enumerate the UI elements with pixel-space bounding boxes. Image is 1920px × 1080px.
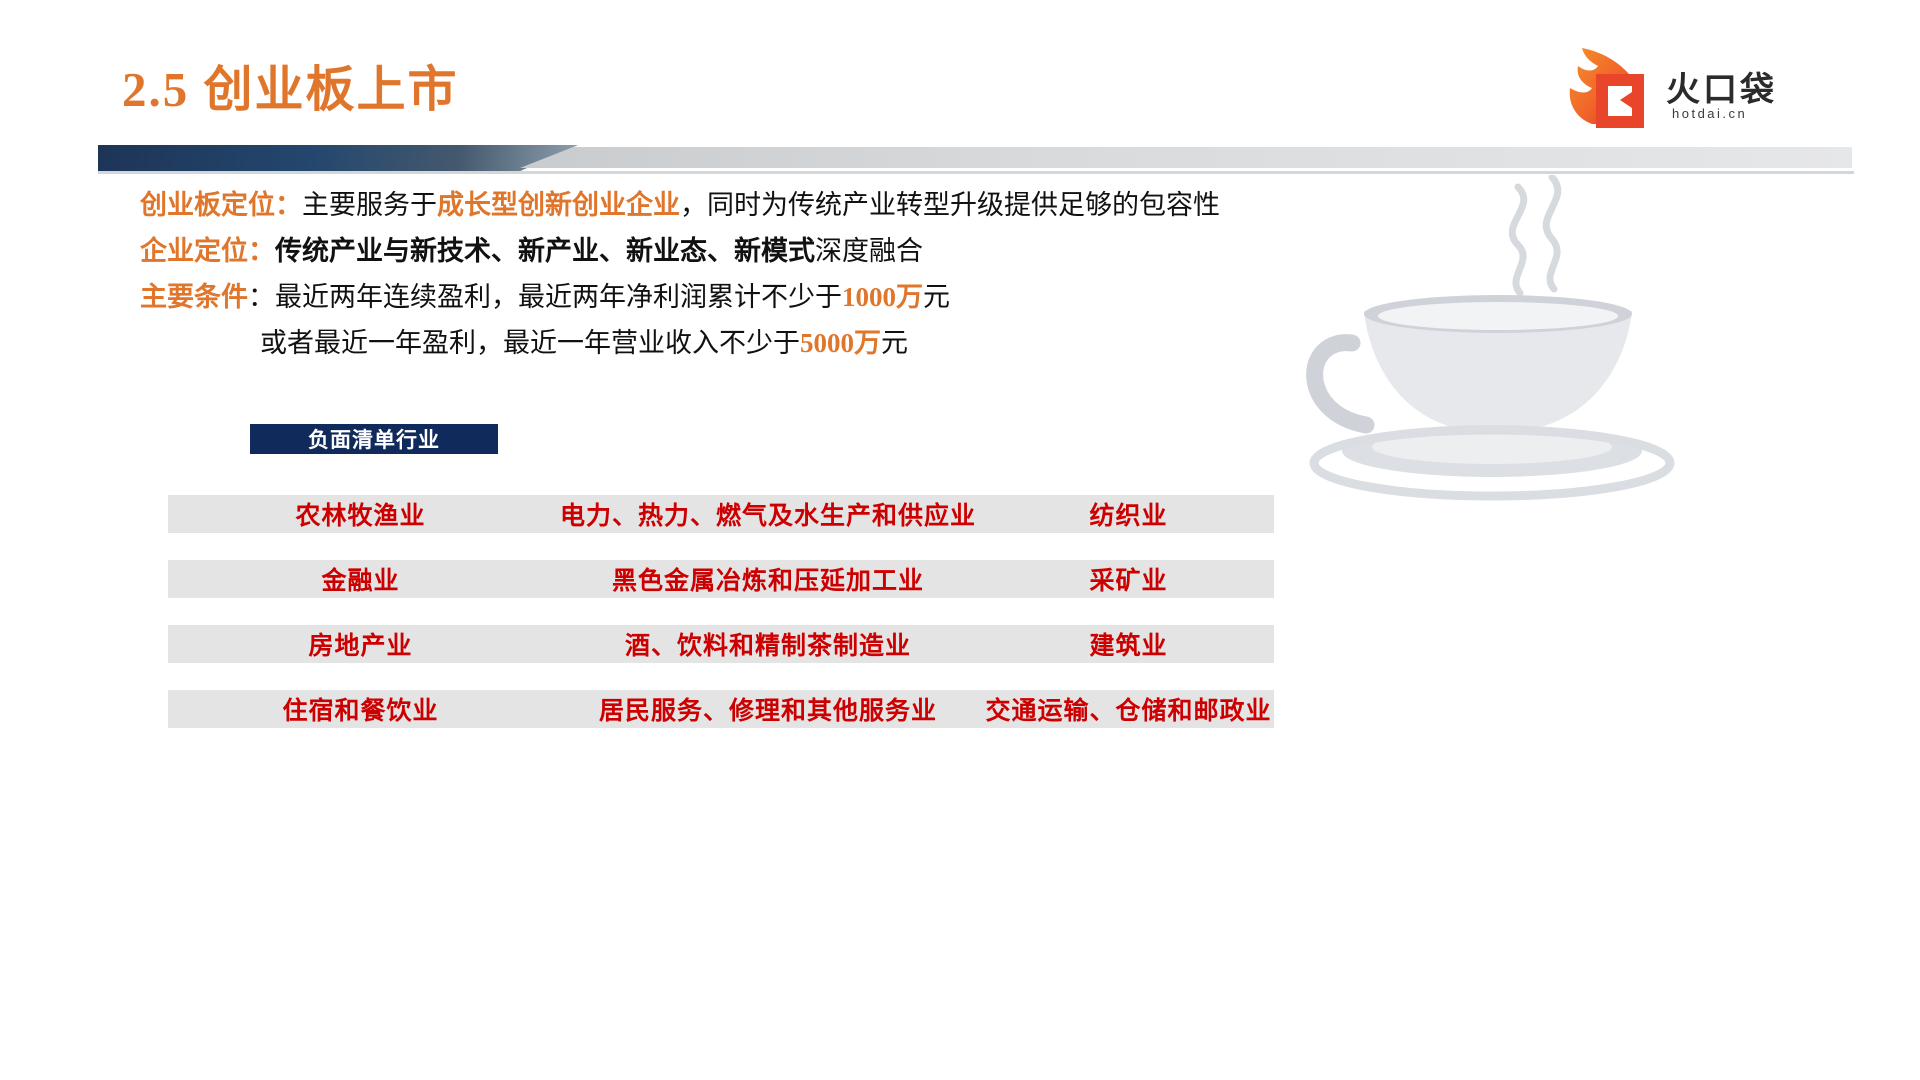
negative-list-banner: 负面清单行业 — [250, 424, 498, 454]
line-conditions-2: 或者最近一年盈利，最近一年营业收入不少于5000万元 — [140, 320, 1320, 366]
table-cell: 酒、饮料和精制茶制造业 — [553, 626, 983, 662]
logo-wordmark: 火口袋 — [1666, 62, 1777, 111]
brand-logo: 火口袋 hotdai.cn — [1562, 40, 1862, 132]
table-cell: 纺织业 — [983, 496, 1274, 532]
flame-card-icon — [1562, 42, 1654, 130]
title-decoration-bar — [0, 145, 1860, 177]
line-conditions-1-segment-1: ：最近两年连续盈利，最近两年净利润累计不少于 — [248, 282, 842, 312]
table-row: 金融业黑色金属冶炼和压延加工业采矿业 — [168, 560, 1274, 598]
line-conditions-1-segment-0: 主要条件 — [140, 282, 248, 312]
table-cell: 金融业 — [168, 561, 553, 597]
table-cell: 交通运输、仓储和邮政业 — [983, 691, 1274, 727]
table-cell: 建筑业 — [983, 626, 1274, 662]
logo-domain: hotdai.cn — [1672, 106, 1747, 121]
line-enterprise-segment-1: 传统产业与新技术、新产业、新业态、新模式 — [275, 236, 815, 266]
line-positioning-segment-3: ，同时为传统产业转型升级提供足够的包容性 — [680, 190, 1220, 220]
line-conditions-1: 主要条件：最近两年连续盈利，最近两年净利润累计不少于1000万元 — [140, 274, 1320, 320]
line-positioning-segment-2: 成长型创新创业企业 — [437, 190, 680, 220]
table-cell: 黑色金属冶炼和压延加工业 — [553, 561, 983, 597]
coffee-cup-illustration — [1280, 175, 1700, 515]
page-title: 2.5 创业板上市 — [122, 62, 459, 118]
line-conditions-1-segment-3: 元 — [923, 282, 950, 312]
table-cell: 农林牧渔业 — [168, 496, 553, 532]
line-enterprise-segment-0: 企业定位： — [140, 236, 275, 266]
table-row: 住宿和餐饮业居民服务、修理和其他服务业交通运输、仓储和邮政业 — [168, 690, 1274, 728]
title-bar-underline — [98, 171, 1854, 174]
table-cell: 居民服务、修理和其他服务业 — [553, 691, 983, 727]
body-text-block: 创业板定位：主要服务于成长型创新创业企业，同时为传统产业转型升级提供足够的包容性… — [140, 182, 1320, 366]
table-cell: 住宿和餐饮业 — [168, 691, 553, 727]
negative-list-table: 农林牧渔业电力、热力、燃气及水生产和供应业纺织业金融业黑色金属冶炼和压延加工业采… — [168, 495, 1274, 755]
line-positioning-segment-1: 主要服务于 — [302, 190, 437, 220]
line-enterprise-segment-2: 深度融合 — [815, 236, 923, 266]
slide-canvas: 2.5 创业板上市 火口袋 hotdai.cn 创业板定位：主要服务于成长型创新… — [0, 0, 1920, 1080]
line-conditions-1-segment-2: 1000万 — [842, 282, 923, 312]
table-row: 农林牧渔业电力、热力、燃气及水生产和供应业纺织业 — [168, 495, 1274, 533]
table-cell: 电力、热力、燃气及水生产和供应业 — [553, 496, 983, 532]
line-positioning-segment-0: 创业板定位： — [140, 190, 302, 220]
line-enterprise: 企业定位：传统产业与新技术、新产业、新业态、新模式深度融合 — [140, 228, 1320, 274]
line-conditions-2-segment-1: 5000万 — [800, 328, 881, 358]
table-row: 房地产业酒、饮料和精制茶制造业建筑业 — [168, 625, 1274, 663]
line-conditions-2-segment-0: 或者最近一年盈利，最近一年营业收入不少于 — [260, 328, 800, 358]
title-bar-dark-segment — [98, 145, 578, 171]
table-cell: 采矿业 — [983, 561, 1274, 597]
line-positioning: 创业板定位：主要服务于成长型创新创业企业，同时为传统产业转型升级提供足够的包容性 — [140, 182, 1320, 228]
title-bar-light-segment — [520, 147, 1852, 168]
table-cell: 房地产业 — [168, 626, 553, 662]
line-conditions-2-segment-2: 元 — [881, 328, 908, 358]
